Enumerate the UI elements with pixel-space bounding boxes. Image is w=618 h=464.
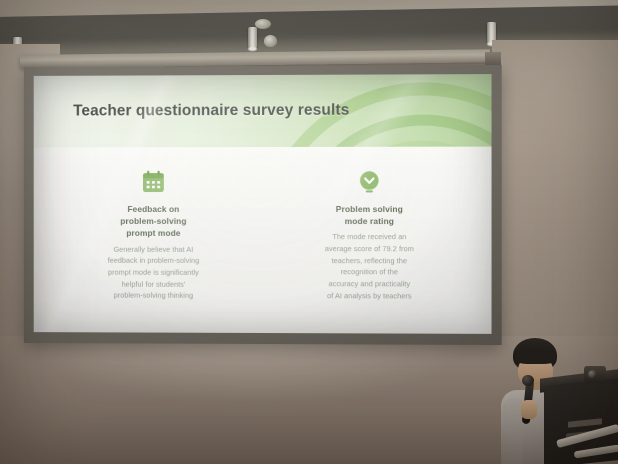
column-body-line: The mode received an <box>303 231 436 243</box>
column-heading: Feedback on problem-solving prompt mode <box>88 203 219 240</box>
column-heading-line: prompt mode <box>88 227 219 239</box>
slide-columns: Feedback on problem-solving prompt mode … <box>34 147 492 303</box>
calendar-icon <box>140 169 166 195</box>
column-heading-line: Problem solving <box>303 203 436 215</box>
column-body-line: teachers, reflecting the <box>303 255 436 267</box>
ceiling-dome-light-icon <box>264 35 277 47</box>
presentation-room-photo: Teacher questionnaire survey results <box>0 0 618 464</box>
ceiling-mount-disc <box>255 19 271 29</box>
column-body-line: helpful for students' <box>88 278 219 290</box>
slide-title: Teacher questionnaire survey results <box>73 102 349 121</box>
column-body-line: recognition of the <box>303 266 436 278</box>
presenter-arm <box>503 398 523 464</box>
projection-screen-surface: Teacher questionnaire survey results <box>34 74 492 334</box>
column-heading-line: problem-solving <box>88 215 219 227</box>
spotlight-center-icon <box>248 27 257 49</box>
chevron-down-circle-icon <box>356 169 382 195</box>
presenter-hand <box>521 400 537 419</box>
wall-light-sheen <box>40 340 460 400</box>
slide-column-feedback: Feedback on problem-solving prompt mode … <box>88 169 219 302</box>
column-body-text: The mode received an average score of 79… <box>303 231 436 302</box>
column-body-text: Generally believe that AI feedback in pr… <box>88 243 219 301</box>
column-body-line: feedback in problem-solving <box>88 255 219 267</box>
column-heading-line: Feedback on <box>88 203 219 215</box>
microphone-head-icon <box>522 375 534 386</box>
column-body-line: prompt mode is significantly <box>88 267 219 279</box>
column-body-line: Generally believe that AI <box>88 243 219 255</box>
slide-body: Feedback on problem-solving prompt mode … <box>34 147 492 334</box>
presenter-fringe <box>515 350 556 364</box>
camera-lens-icon <box>588 370 597 379</box>
column-body-line: average score of 79.2 from <box>303 243 436 255</box>
slide-column-rating: Problem solving mode rating The mode rec… <box>303 169 436 303</box>
projection-screen-frame: Teacher questionnaire survey results <box>24 65 502 345</box>
presentation-slide: Teacher questionnaire survey results <box>34 74 492 334</box>
column-heading-line: mode rating <box>303 215 436 227</box>
column-body-line: of AI analysis by teachers <box>303 290 436 302</box>
column-body-line: problem-solving thinking <box>88 290 219 302</box>
column-heading: Problem solving mode rating <box>303 203 436 228</box>
slide-header-band: Teacher questionnaire survey results <box>34 74 492 147</box>
column-body-line: accuracy and practicality <box>303 278 436 290</box>
